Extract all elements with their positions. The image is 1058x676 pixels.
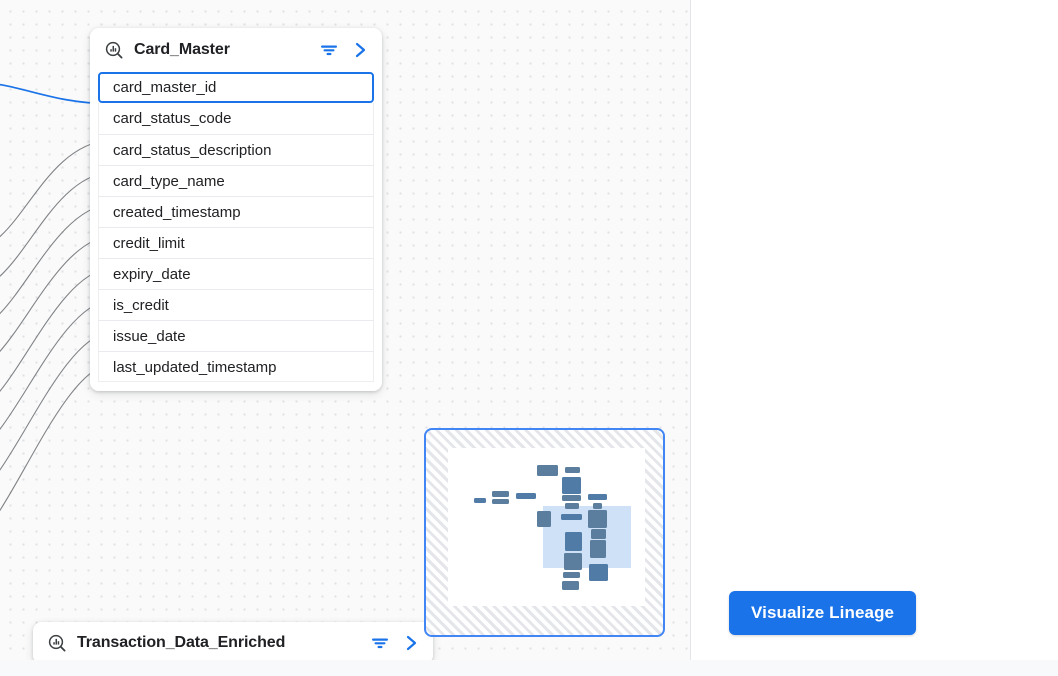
minimap-node bbox=[588, 510, 607, 528]
minimap-node bbox=[562, 495, 581, 501]
minimap-node bbox=[562, 477, 581, 494]
field-row[interactable]: credit_limit bbox=[98, 227, 374, 258]
minimap-node bbox=[564, 553, 582, 570]
minimap-node bbox=[537, 465, 558, 476]
field-row[interactable]: card_type_name bbox=[98, 165, 374, 196]
bottom-strip bbox=[0, 660, 1058, 676]
node-title: Card_Master bbox=[134, 41, 308, 59]
field-row[interactable]: issue_date bbox=[98, 320, 374, 351]
chevron-right-icon[interactable] bbox=[350, 40, 370, 60]
minimap-node bbox=[516, 493, 536, 499]
minimap-node bbox=[563, 572, 580, 578]
field-row[interactable]: card_master_id bbox=[98, 72, 374, 103]
minimap-node bbox=[593, 503, 602, 509]
node-title: Transaction_Data_Enriched bbox=[77, 634, 359, 652]
field-row[interactable]: expiry_date bbox=[98, 258, 374, 289]
minimap-node bbox=[589, 564, 608, 581]
minimap-node bbox=[561, 514, 582, 520]
minimap-node bbox=[565, 532, 582, 551]
minimap[interactable] bbox=[424, 428, 665, 637]
lineage-app: Card_Master card_master_id card_status bbox=[0, 0, 1058, 676]
minimap-node bbox=[565, 503, 579, 509]
node-header[interactable]: Transaction_Data_Enriched bbox=[33, 622, 433, 660]
visualize-lineage-button[interactable]: Visualize Lineage bbox=[729, 591, 916, 635]
field-row[interactable]: card_status_code bbox=[98, 103, 374, 134]
minimap-node bbox=[588, 494, 607, 500]
filter-icon[interactable] bbox=[318, 40, 340, 60]
side-panel: Visualize Lineage bbox=[691, 0, 1058, 660]
node-field-list: card_master_id card_status_code card_sta… bbox=[90, 72, 382, 391]
node-transaction-data-enriched[interactable]: Transaction_Data_Enriched bbox=[33, 622, 433, 660]
node-card-master[interactable]: Card_Master card_master_id card_status bbox=[90, 28, 382, 391]
minimap-node bbox=[537, 511, 551, 527]
minimap-node bbox=[590, 540, 606, 558]
node-header[interactable]: Card_Master bbox=[90, 28, 382, 72]
minimap-node bbox=[591, 529, 606, 539]
minimap-node bbox=[562, 581, 579, 590]
minimap-viewport[interactable] bbox=[543, 506, 631, 568]
field-row[interactable]: is_credit bbox=[98, 289, 374, 320]
filter-icon[interactable] bbox=[369, 633, 391, 653]
field-row[interactable]: card_status_description bbox=[98, 134, 374, 165]
lineage-canvas[interactable]: Card_Master card_master_id card_status bbox=[0, 0, 690, 660]
minimap-node bbox=[565, 467, 580, 473]
field-row[interactable]: last_updated_timestamp bbox=[98, 351, 374, 382]
minimap-node bbox=[492, 491, 509, 497]
chevron-right-icon[interactable] bbox=[401, 633, 421, 653]
minimap-inner bbox=[448, 448, 645, 606]
field-row[interactable]: created_timestamp bbox=[98, 196, 374, 227]
table-search-icon bbox=[104, 40, 124, 60]
minimap-node bbox=[474, 498, 486, 503]
table-search-icon bbox=[47, 633, 67, 653]
minimap-node bbox=[492, 499, 509, 504]
